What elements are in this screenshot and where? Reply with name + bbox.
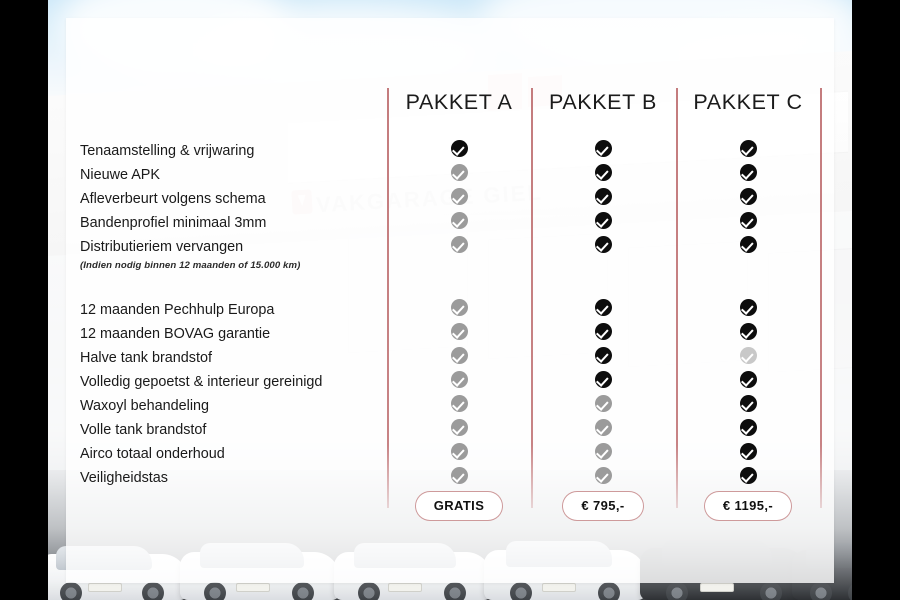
feature-mark-a [387,140,531,158]
check-circle-icon [595,236,612,253]
feature-mark-b [531,467,675,485]
check-circle-icon [740,164,757,181]
feature-mark-a [387,371,531,389]
feature-label: Volledig gepoetst & interieur gereinigd [80,374,322,390]
check-circle-icon [740,299,757,316]
feature-row: Volle tank brandstof [66,421,834,445]
feature-row: 12 maanden Pechhulp Europa [66,301,834,325]
check-circle-icon [451,236,468,253]
check-circle-icon [595,395,612,412]
feature-mark-a [387,188,531,206]
feature-label: Waxoyl behandeling [80,398,209,414]
feature-mark-a [387,467,531,485]
feature-row: Volledig gepoetst & interieur gereinigd [66,373,834,397]
screenshot-root: VAKGARAGE GIEL [0,0,900,600]
check-circle-icon [740,323,757,340]
check-circle-icon [595,323,612,340]
check-circle-icon [595,140,612,157]
check-circle-icon [740,371,757,388]
feature-mark-a [387,212,531,230]
feature-mark-a [387,443,531,461]
feature-mark-c [676,467,820,485]
check-circle-icon [595,299,612,316]
check-circle-icon [451,443,468,460]
feature-label: 12 maanden Pechhulp Europa [80,302,274,318]
check-circle-icon [451,299,468,316]
check-circle-icon [740,140,757,157]
feature-mark-a [387,164,531,182]
feature-mark-b [531,236,675,254]
feature-label: 12 maanden BOVAG garantie [80,326,270,342]
feature-mark-c [676,164,820,182]
check-circle-icon [451,323,468,340]
check-circle-icon [451,467,468,484]
feature-mark-b [531,419,675,437]
feature-mark-b [531,140,675,158]
feature-mark-b [531,347,675,365]
feature-mark-c [676,419,820,437]
price-pill-pakket-b[interactable]: € 795,- [562,491,643,521]
check-circle-icon [595,371,612,388]
feature-mark-c [676,188,820,206]
check-circle-icon [595,443,612,460]
check-circle-icon [451,188,468,205]
feature-mark-a [387,323,531,341]
feature-mark-b [531,164,675,182]
feature-label: Veiligheidstas [80,470,168,486]
check-circle-icon [451,212,468,229]
feature-mark-c [676,140,820,158]
feature-mark-c [676,371,820,389]
feature-mark-b [531,371,675,389]
feature-mark-c [676,347,820,365]
check-circle-icon [740,212,757,229]
check-circle-icon [740,443,757,460]
check-circle-icon [451,164,468,181]
check-circle-icon [451,140,468,157]
check-circle-icon [451,347,468,364]
feature-row: Veiligheidstas [66,469,834,493]
feature-rows: Tenaamstelling & vrijwaringNieuwe APKAfl… [66,142,834,493]
check-circle-icon [740,467,757,484]
feature-mark-c [676,395,820,413]
feature-label: Bandenprofiel minimaal 3mm [80,215,266,231]
group-spacer [66,281,834,301]
feature-mark-b [531,299,675,317]
check-circle-icon [595,467,612,484]
feature-label: Nieuwe APK [80,167,160,183]
feature-label: Airco totaal onderhoud [80,446,225,462]
feature-row: 12 maanden BOVAG garantie [66,325,834,349]
check-circle-icon [595,212,612,229]
feature-mark-b [531,212,675,230]
feature-label: Volle tank brandstof [80,422,206,438]
feature-row: Tenaamstelling & vrijwaring [66,142,834,166]
price-pill-pakket-a[interactable]: GRATIS [415,491,504,521]
feature-mark-b [531,443,675,461]
price-row: GRATIS € 795,- € 1195,- [66,491,834,531]
check-circle-icon [595,164,612,181]
check-circle-icon [595,419,612,436]
price-cell-c: € 1195,- [676,491,820,521]
feature-mark-b [531,323,675,341]
feature-mark-c [676,443,820,461]
feature-label: Tenaamstelling & vrijwaring [80,143,254,159]
price-cell-b: € 795,- [531,491,675,521]
price-pill-pakket-c[interactable]: € 1195,- [704,491,792,521]
feature-label: Distributieriem vervangen [80,239,243,255]
feature-row: Bandenprofiel minimaal 3mm [66,214,834,238]
feature-mark-a [387,419,531,437]
feature-mark-c [676,299,820,317]
check-circle-icon [740,347,757,364]
check-circle-icon [595,347,612,364]
feature-row: Distributieriem vervangen [66,238,834,262]
feature-row: Airco totaal onderhoud [66,445,834,469]
feature-mark-c [676,323,820,341]
feature-row: Waxoyl behandeling [66,397,834,421]
comparison-table: PAKKET A PAKKET B PAKKET C Tenaamstellin… [66,18,834,583]
feature-label: Halve tank brandstof [80,350,212,366]
check-circle-icon [451,419,468,436]
price-cell-a: GRATIS [387,491,531,521]
column-header-pakket-b: PAKKET B [531,90,675,115]
feature-mark-a [387,236,531,254]
check-circle-icon [740,395,757,412]
table-header-row: PAKKET A PAKKET B PAKKET C [66,90,834,134]
package-comparison-card: PAKKET A PAKKET B PAKKET C Tenaamstellin… [66,18,834,583]
feature-note: (Indien nodig binnen 12 maanden of 15.00… [80,260,300,271]
feature-note-row: (Indien nodig binnen 12 maanden of 15.00… [66,262,834,281]
check-circle-icon [740,419,757,436]
feature-label: Afleverbeurt volgens schema [80,191,266,207]
feature-mark-a [387,347,531,365]
feature-mark-a [387,395,531,413]
check-circle-icon [451,395,468,412]
check-circle-icon [451,371,468,388]
feature-mark-c [676,212,820,230]
column-header-pakket-c: PAKKET C [676,90,820,115]
feature-row: Nieuwe APK [66,166,834,190]
column-header-pakket-a: PAKKET A [387,90,531,115]
feature-mark-a [387,299,531,317]
feature-mark-b [531,395,675,413]
feature-row: Afleverbeurt volgens schema [66,190,834,214]
feature-mark-b [531,188,675,206]
check-circle-icon [740,188,757,205]
feature-mark-c [676,236,820,254]
check-circle-icon [740,236,757,253]
feature-row: Halve tank brandstof [66,349,834,373]
check-circle-icon [595,188,612,205]
